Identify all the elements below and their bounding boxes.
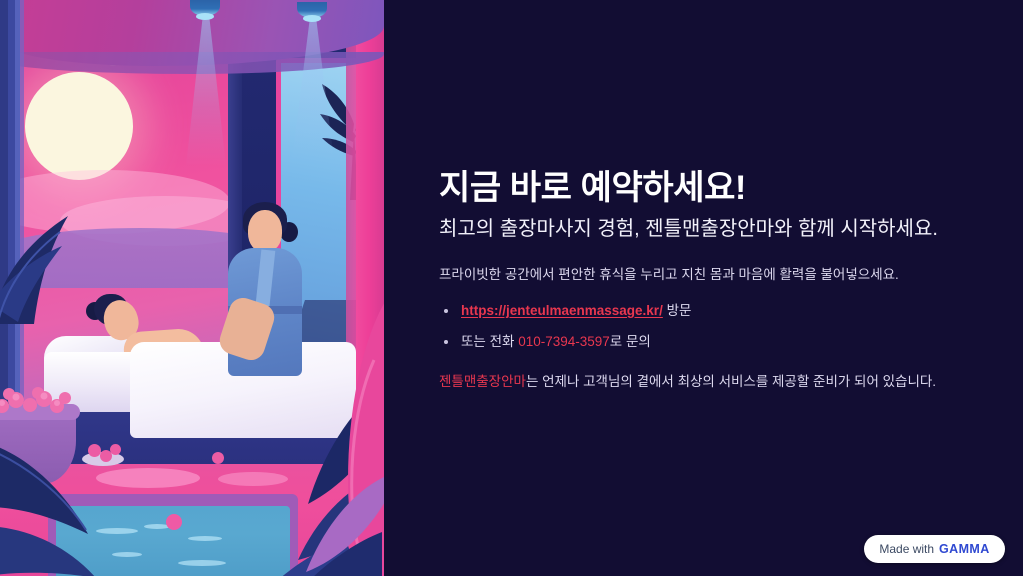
foliage-left-top — [0, 196, 110, 326]
phone-number[interactable]: 010-7394-3597 — [518, 334, 610, 349]
made-with-gamma-badge[interactable]: Made with GAMMA — [864, 535, 1005, 563]
website-link-suffix: 방문 — [663, 303, 692, 318]
floating-flower — [166, 514, 182, 530]
foliage-bottom-right — [286, 470, 384, 576]
intro-paragraph: 프라이빗한 공간에서 편안한 휴식을 누리고 지친 몸과 마음에 활력을 불어넣… — [439, 265, 969, 285]
masseuse-head — [248, 210, 282, 252]
water-ripple-3 — [188, 536, 222, 541]
list-item-website: https://jenteulmaenmassage.kr/ 방문 — [461, 301, 969, 321]
list-item-phone: 또는 전화 010-7394-3597로 문의 — [461, 332, 969, 352]
brand-name: 젠틀맨출장안마 — [439, 374, 526, 389]
phone-prefix: 또는 전화 — [461, 334, 518, 349]
pink-blossoms — [0, 384, 74, 416]
closing-paragraph: 젠틀맨출장안마는 언제나 고객님의 곁에서 최상의 서비스를 제공할 준비가 되… — [439, 372, 969, 392]
lamp-glow-1 — [196, 13, 214, 20]
foliage-left-bottom — [0, 430, 126, 576]
closing-rest: 는 언제나 고객님의 곁에서 최상의 서비스를 제공할 준비가 되어 있습니다. — [526, 374, 936, 389]
text-block: 지금 바로 예약하세요! 최고의 출장마사지 경험, 젠틀맨출장안마와 함께 시… — [439, 168, 969, 393]
moon-shape — [25, 72, 133, 180]
slide-root: 지금 바로 예약하세요! 최고의 출장마사지 경험, 젠틀맨출장안마와 함께 시… — [0, 0, 1023, 576]
petal-4 — [212, 452, 224, 464]
page-subtitle: 최고의 출장마사지 경험, 젠틀맨출장안마와 함께 시작하세요. — [439, 216, 969, 242]
content-panel: 지금 바로 예약하세요! 최고의 출장마사지 경험, 젠틀맨출장안마와 함께 시… — [384, 0, 1023, 576]
website-link[interactable]: https://jenteulmaenmassage.kr/ — [461, 303, 663, 318]
lamp-glow-2 — [303, 15, 321, 22]
phone-suffix: 로 문의 — [610, 334, 651, 349]
page-title: 지금 바로 예약하세요! — [439, 168, 969, 208]
badge-product-name: GAMMA — [939, 542, 990, 556]
cta-list: https://jenteulmaenmassage.kr/ 방문 또는 전화 … — [439, 301, 969, 353]
badge-made-with-label: Made with — [879, 542, 934, 556]
spa-room-illustration — [0, 0, 384, 576]
water-ripple-5 — [178, 560, 226, 566]
